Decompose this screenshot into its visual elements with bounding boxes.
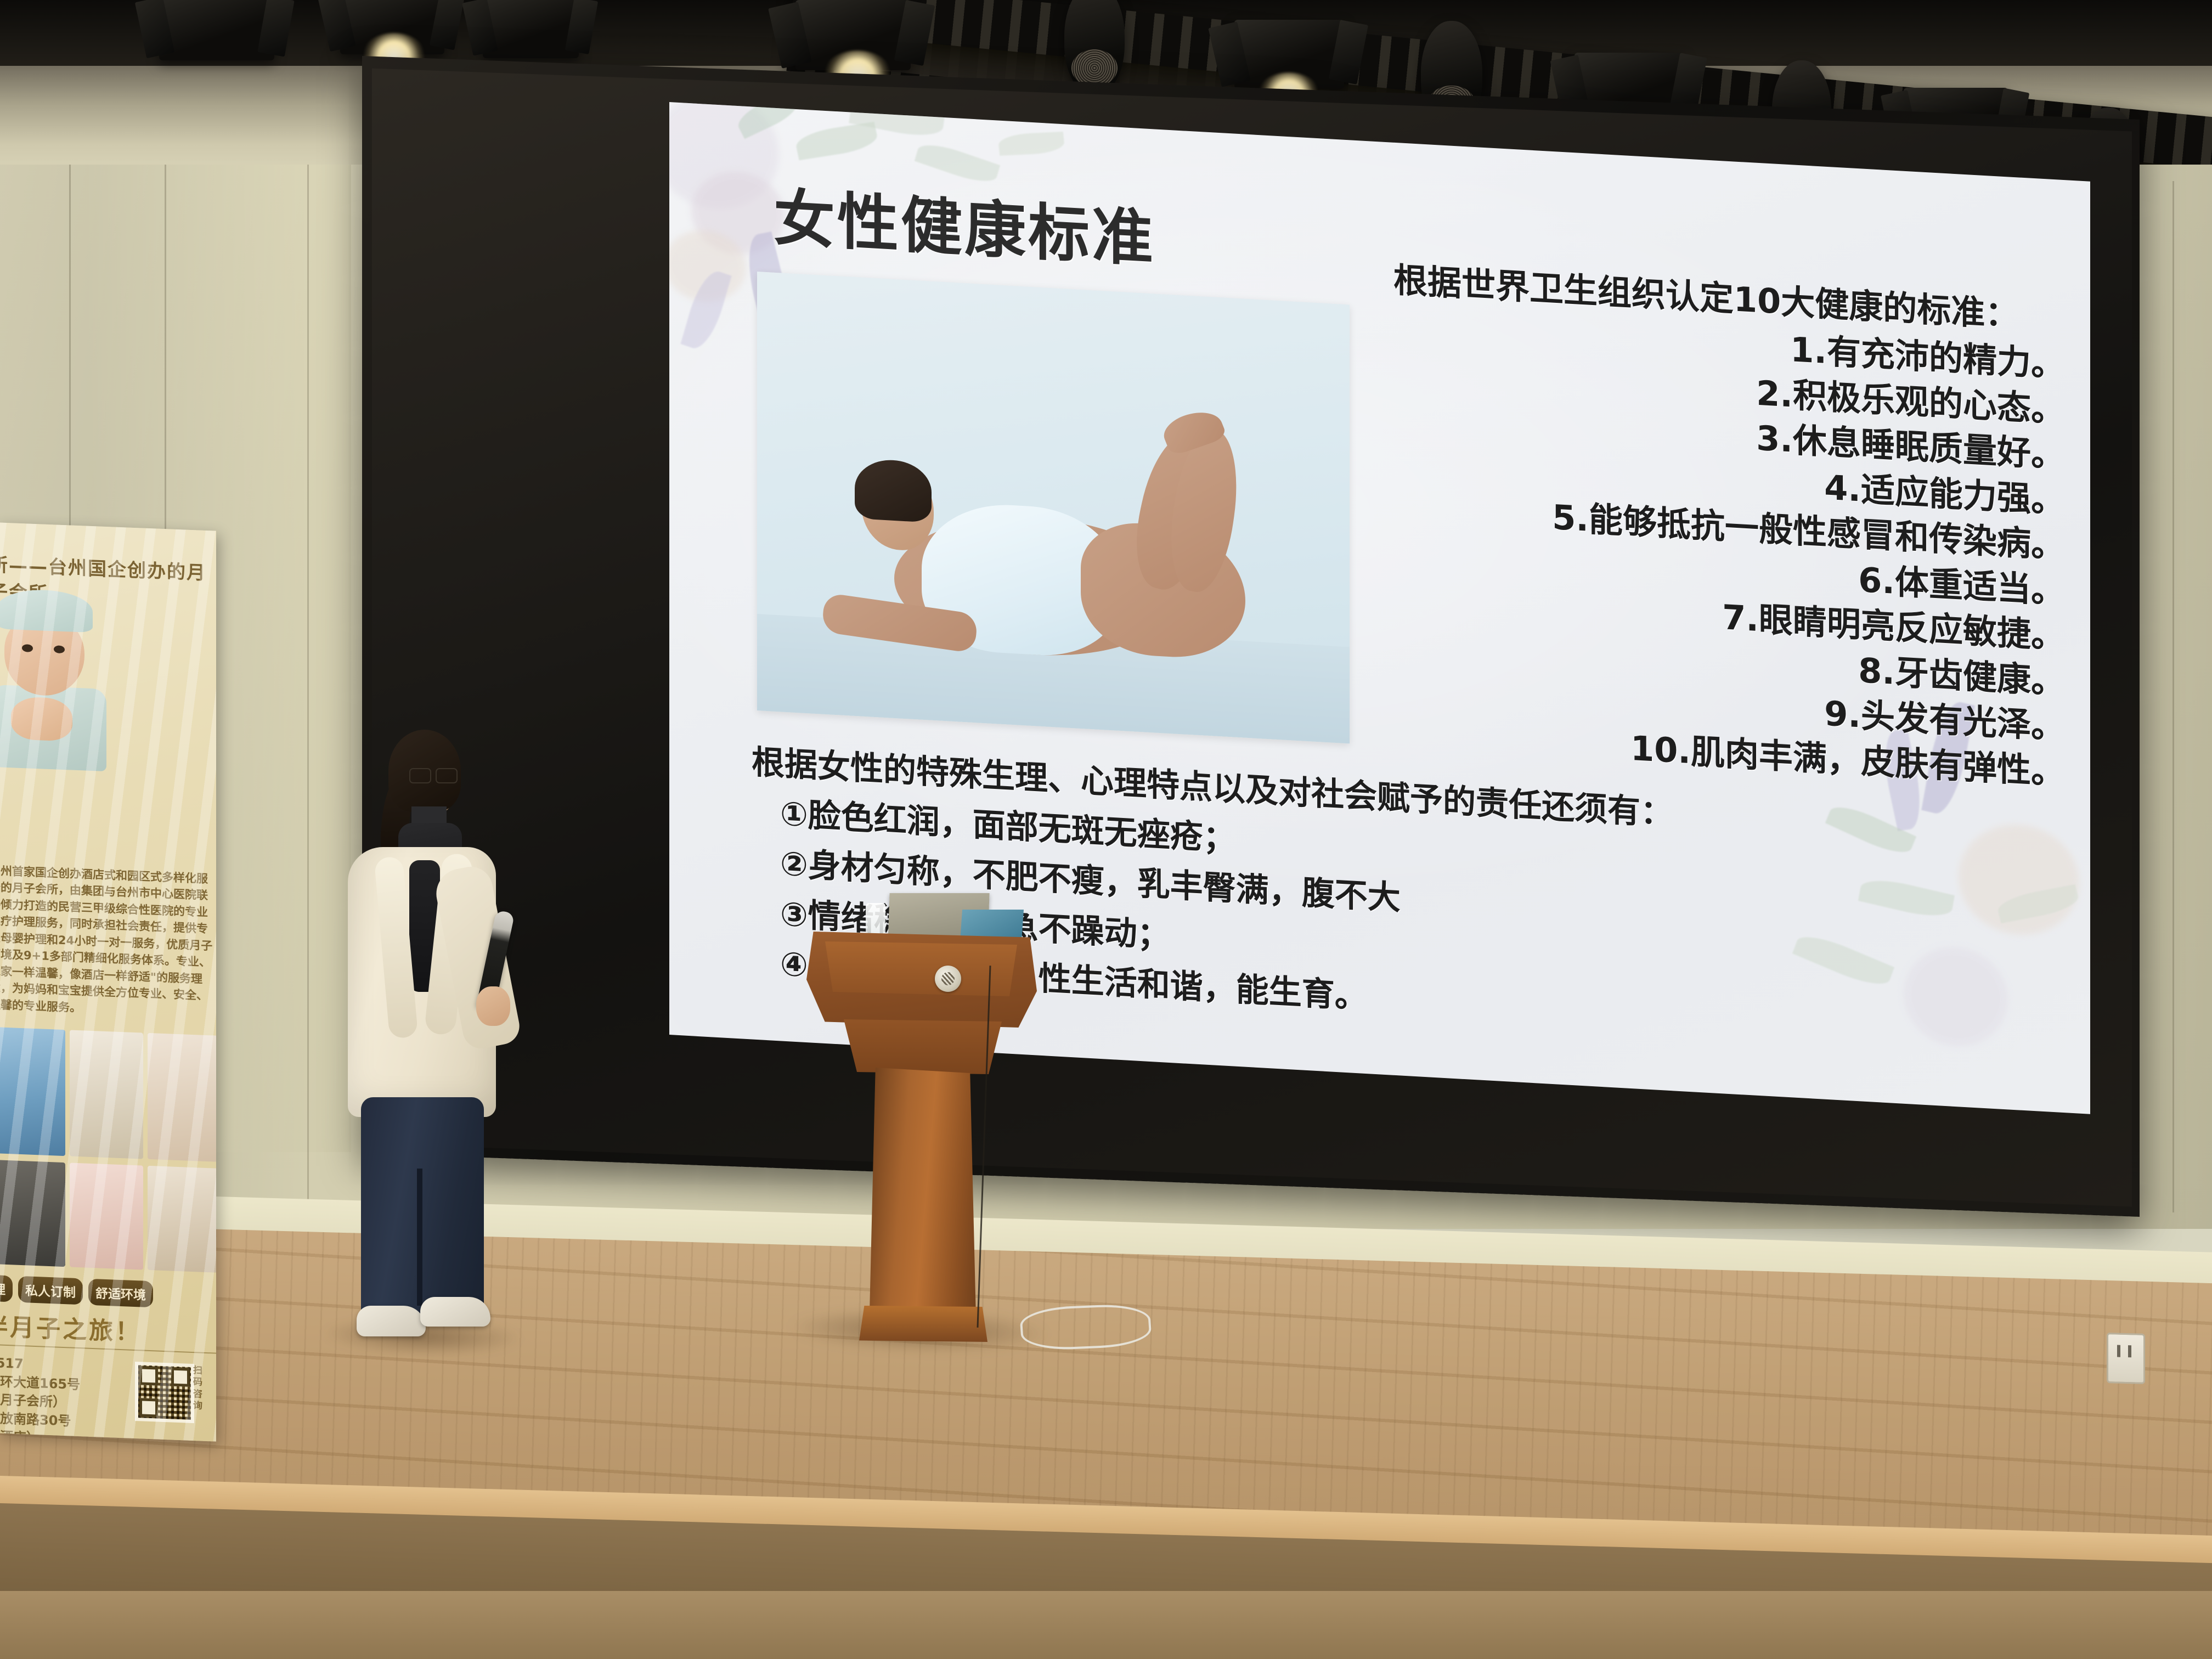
presenter-trousers <box>361 1097 484 1317</box>
banner-photo <box>70 1030 144 1159</box>
banner-contact-info: 6517 东环大道165号 （月子会所） 解放南路30号 （酒店） <box>0 1354 151 1442</box>
presenter[interactable] <box>329 730 516 1350</box>
qr-finder-bottom-left <box>139 1398 158 1417</box>
banner-photo <box>148 1033 216 1162</box>
presenter-hand <box>476 986 510 1026</box>
watercolor-leaf-icon <box>997 132 1065 156</box>
projection-screen-frame: 女性健康标准 根据世界卫生组织认定10大健康的标准： 1.有充沛的精力。 2.积… <box>362 56 2140 1217</box>
wall-seam <box>307 165 309 1207</box>
presenter-shoe-left <box>357 1306 426 1336</box>
slide-title: 女性健康标准 <box>774 168 1155 279</box>
wall-outlet-icon[interactable] <box>2107 1333 2145 1384</box>
podium-column <box>869 1068 977 1341</box>
watercolor-leaf-icon <box>794 122 880 160</box>
banner-photo <box>148 1166 216 1273</box>
podium-emblem-icon <box>935 966 961 992</box>
banner-photo <box>0 1027 65 1156</box>
slide-health-standards-list: 根据世界卫生组织认定10大健康的标准： 1.有充沛的精力。 2.积极乐观的心态。… <box>1393 258 2068 795</box>
house-floor <box>0 1591 2212 1659</box>
banner-pill: 舒适环境 <box>88 1279 153 1308</box>
glasses-lens-left <box>409 768 431 783</box>
stage-spotlight-icon <box>795 0 911 70</box>
rollup-banner[interactable]: 所——台州国企创办的月子会所 台州首家国企创办酒店式和园区式多样化服务的月子会所… <box>0 522 216 1441</box>
banner-photo-row-2 <box>0 1160 216 1273</box>
slide-photo <box>757 272 1350 743</box>
qr-code-label: 扫码咨询 <box>193 1365 210 1412</box>
spotlight-body <box>159 0 274 60</box>
presentation-scene-photo: 女性健康标准 根据世界卫生组织认定10大健康的标准： 1.有充沛的精力。 2.积… <box>0 0 2212 1659</box>
banner-body-text: 台州首家国企创办酒店式和园区式多样化服务的月子会所，由集团与台州市中心医院联手倾… <box>0 862 216 1022</box>
glasses-lens-right <box>436 768 458 783</box>
glasses-icon <box>409 768 458 781</box>
presenter-trousers-split <box>417 1169 422 1306</box>
banner-photo-row-1 <box>0 1027 216 1162</box>
stage-spotlight-icon <box>340 0 444 54</box>
wall-seam <box>69 165 71 582</box>
outlet-slots <box>2117 1345 2120 1357</box>
stage-spotlight-icon <box>483 0 579 58</box>
baby-hands <box>11 696 72 741</box>
podium[interactable] <box>806 900 1037 1339</box>
banner-pill: 理 <box>0 1275 13 1302</box>
qr-finder-top-left <box>139 1366 158 1385</box>
baby-cap <box>0 588 93 633</box>
model-hair <box>855 458 932 523</box>
banner-feature-pills: 理 私人订制 舒适环境 <box>0 1275 216 1311</box>
stage-spotlight-icon <box>159 0 274 60</box>
presenter-shoe-right <box>420 1297 490 1327</box>
stage-spotlight-icon <box>1234 20 1344 89</box>
banner-photo <box>70 1163 144 1269</box>
baby-eye-left <box>22 644 33 652</box>
podium-base <box>859 1306 988 1342</box>
baby-eye-right <box>54 645 65 653</box>
qr-code-icon[interactable] <box>135 1362 194 1423</box>
podium-neck <box>840 1019 1005 1074</box>
banner-slogan: 伴月子之旅！ <box>0 1306 216 1351</box>
banner-photo <box>0 1160 65 1267</box>
wall-seam <box>2172 181 2174 1212</box>
banner-baby-photo <box>0 588 123 775</box>
stage-par-light-icon <box>1064 0 1125 93</box>
banner-pill: 私人订制 <box>18 1276 83 1305</box>
qr-finder-top-right <box>171 1368 190 1387</box>
